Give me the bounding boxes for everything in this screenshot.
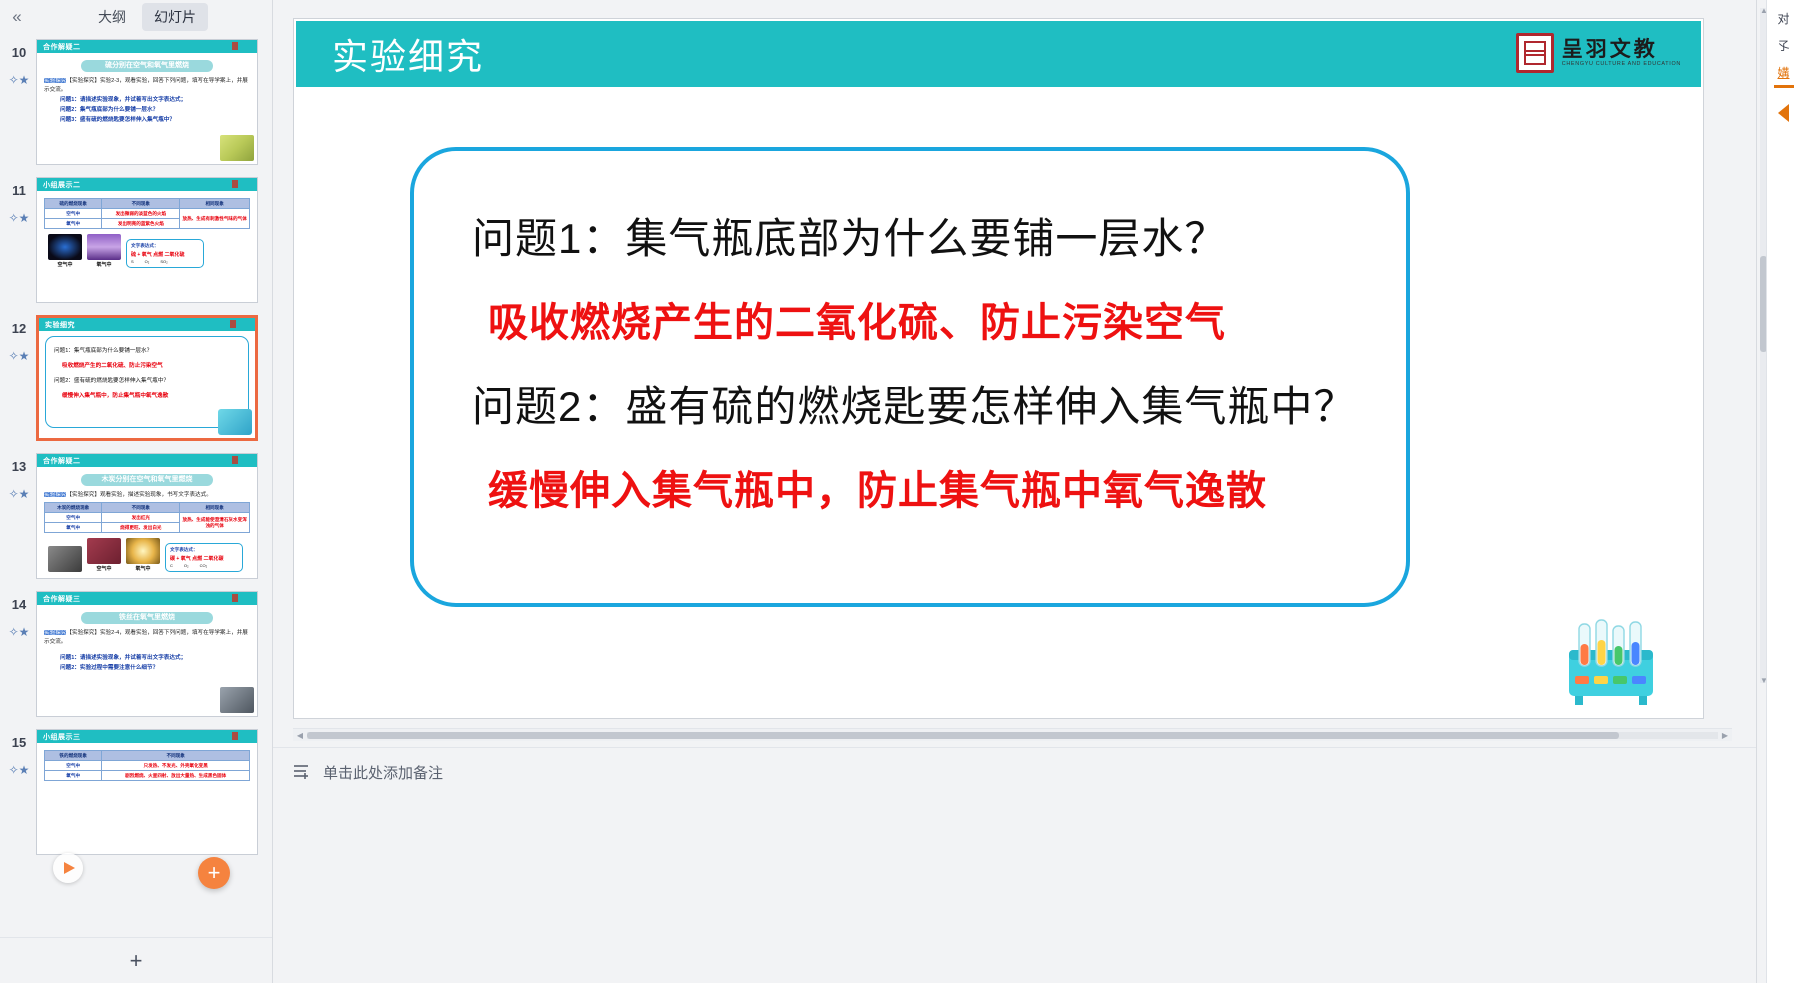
thumbnail-item-15[interactable]: 15 ✧★ 小组展示三 铁的燃烧现象 不同现象 [0, 723, 272, 861]
mini-header-title: 小组展示三 [43, 732, 81, 742]
thumbnail-preview-selected[interactable]: 实验细究 问题1：集气瓶底部为什么要铺一层水？ 吸收燃烧产生的二氧化硫、防止污染… [36, 315, 258, 441]
mini-image-row: 空气中 氧气中 文字表达式： 硫 + 氧气 点燃 二氧化硫 S [44, 234, 250, 268]
cell: 氧气中 [45, 219, 102, 229]
mini-brand-logo-icon [232, 732, 254, 740]
thumbnail-meta: 15 ✧★ [2, 729, 36, 779]
equation-text: 硫 + 氧气 点燃 二氧化硫 [131, 251, 199, 258]
right-rail: ▲ ▼ ▣ ⇵ 对 孓 媾 [1756, 0, 1800, 983]
thumbnail-meta: 12 ✧★ [2, 315, 36, 365]
table-header-row: 硫的燃烧现象 不同现象 相同现象 [45, 199, 250, 209]
slide-number: 11 [2, 181, 36, 201]
mini-question: 问题2：实验过程中需要注意什么细节？ [44, 663, 250, 673]
mini-image-row: 空气中 氧气中 文字表达式： 碳 + 氧气 点燃 二氧化碳 C [44, 538, 250, 572]
symbol: S [131, 259, 134, 264]
mini-question: 问题3：盛有硫的燃烧匙要怎样伸入集气瓶中？ [44, 115, 250, 125]
mini-body: 木炭分别在空气和氧气里燃烧 实验探究【实验探究】观看实验，描述实验现象，书写文字… [37, 467, 257, 578]
scroll-right-arrow[interactable]: ▶ [1718, 731, 1732, 740]
cell: 只发热、不发光、外壳氧化变黑 [102, 761, 250, 771]
col-header: 相同现象 [180, 199, 250, 209]
mini-data-table: 硫的燃烧现象 不同现象 相同现象 空气中 发出微弱的淡蓝色的火焰 放热、生成有刺… [44, 198, 250, 229]
content-rounded-box[interactable]: 问题1：集气瓶底部为什么要铺一层水？ 吸收燃烧产生的二氧化硫、防止污染空气 问题… [410, 147, 1410, 607]
mini-highlight: 实验探究 [44, 630, 66, 636]
animation-star-icon: ✧★ [2, 209, 36, 227]
mini-header-title: 合作解疑二 [43, 456, 81, 466]
thumbnail-meta: 10 ✧★ [2, 39, 36, 89]
mini-header: 小组展示二 [37, 178, 257, 191]
mini-line: 问题1：集气瓶底部为什么要铺一层水？ [54, 344, 240, 359]
table-row: 空气中 只发热、不发光、外壳氧化变黑 [45, 761, 250, 771]
equation-title: 文字表达式： [131, 243, 199, 249]
horizontal-scrollbar[interactable]: ◀ ▶ [293, 728, 1732, 741]
collapse-panel-icon[interactable]: « [0, 2, 34, 32]
mini-caption: 空气中 [87, 565, 121, 572]
scroll-track[interactable] [307, 732, 1718, 739]
mini-pill-title: 硫分别在空气和氧气里燃烧 [81, 60, 213, 72]
accent-underline [1774, 85, 1794, 88]
mini-line: 缓慢伸入集气瓶中，防止集气瓶中氧气逸散 [54, 389, 240, 404]
col-header: 相同现象 [180, 503, 250, 513]
slide-number: 15 [2, 733, 36, 753]
slide-title: 实验细究 [332, 28, 484, 80]
mini-equation-box: 文字表达式： 硫 + 氧气 点燃 二氧化硫 S O₂ SO₂ [126, 239, 204, 268]
cell: 放热、生成有刺激性气味的气体 [180, 209, 250, 229]
col-header: 不同现象 [102, 199, 180, 209]
mini-header-title: 合作解疑三 [43, 594, 81, 604]
table-header-row: 铁的燃烧现象 不同现象 [45, 751, 250, 761]
equation-symbols: C O₂ CO₂ [170, 563, 238, 568]
cell: 发出红光 [102, 513, 180, 523]
thumbnail-list[interactable]: 10 ✧★ 合作解疑二 硫分别在空气和氧气里燃烧 实验探究【实验探究】实验2-3… [0, 33, 272, 937]
play-slideshow-button[interactable] [53, 853, 83, 883]
mini-caption: 空气中 [48, 261, 82, 268]
thumbnail-meta: 14 ✧★ [2, 591, 36, 641]
add-slide-fab[interactable]: + [198, 857, 230, 889]
slide-stage: 实验细究 呈羽文教 CHENGYU CULTURE AND EDUCATION … [293, 18, 1732, 718]
thumbnail-panel-footer: + [0, 937, 272, 983]
mini-body: 硫分别在空气和氧气里燃烧 实验探究【实验探究】实验2-3，观看实验，回答下列问题… [37, 53, 257, 164]
mini-brand-logo-icon [232, 42, 254, 50]
thumbnail-preview[interactable]: 小组展示二 硫的燃烧现象 不同现象 相同现象 空气中 [36, 177, 258, 303]
mini-header: 合作解疑二 [37, 454, 257, 467]
cell: 氧气中 [45, 523, 102, 533]
cell: 空气中 [45, 513, 102, 523]
answer-2-text: 缓慢伸入集气瓶中，防止集气瓶中氧气逸散 [472, 449, 1386, 533]
play-icon [63, 861, 76, 875]
add-note-icon [293, 763, 311, 779]
col-header: 不同现象 [102, 751, 250, 761]
symbol: CO₂ [200, 563, 208, 568]
animation-star-icon: ✧★ [2, 623, 36, 641]
equation-symbols: S O₂ SO₂ [131, 259, 199, 264]
table-header-row: 木炭的燃烧现象 不同现象 相同现象 [45, 503, 250, 513]
animation-star-icon: ✧★ [2, 761, 36, 779]
mini-paragraph-text: 【实验探究】实验2-3，观看实验，回答下列问题，填写在导学案上，并展示交流。 [44, 78, 248, 93]
mini-header-title: 小组展示二 [43, 180, 81, 190]
thumbnail-preview[interactable]: 合作解疑二 硫分别在空气和氧气里燃烧 实验探究【实验探究】实验2-3，观看实验，… [36, 39, 258, 165]
mini-highlight: 实验探究 [44, 492, 66, 498]
powerpoint-editor-window: « 大纲 幻灯片 10 ✧★ 合作解疑二 硫分别在空气 [0, 0, 1800, 983]
panel-tabs: 大纲 幻灯片 [86, 3, 208, 31]
mini-photo [87, 234, 121, 260]
cell: 放热、生成能使澄清石灰水变浑浊的气体 [180, 513, 250, 533]
mini-paragraph: 实验探究【实验探究】实验2-4，观看实验，回答下列问题，填写在导学案上，并展示交… [44, 629, 250, 647]
col-header: 硫的燃烧现象 [45, 199, 102, 209]
thumbnail-item-13[interactable]: 13 ✧★ 合作解疑二 木炭分别在空气和氧气里燃烧 实验探究【实验探究】观看实验… [0, 447, 272, 585]
mini-body: 铁丝在氧气里燃烧 实验探究【实验探究】实验2-4，观看实验，回答下列问题，填写在… [37, 605, 257, 716]
question-1-text: 问题1：集气瓶底部为什么要铺一层水？ [472, 197, 1386, 281]
symbol: SO₂ [160, 259, 167, 264]
mini-question: 问题1：请描述实验现象，并试着写出文字表达式； [44, 653, 250, 663]
equation-title: 文字表达式： [170, 547, 238, 553]
mini-brand-logo-icon [232, 594, 254, 602]
slide-number: 14 [2, 595, 36, 615]
mini-image-block: 空气中 [48, 234, 82, 268]
slide-thumbnail-panel: « 大纲 幻灯片 10 ✧★ 合作解疑二 硫分别在空气 [0, 0, 273, 983]
right-side-panel[interactable]: 对 孓 媾 [1766, 0, 1800, 983]
mini-image-block: 氧气中 [126, 538, 160, 572]
thumbnail-panel-header: « 大纲 幻灯片 [0, 0, 272, 33]
mini-line: 问题2：盛有硫的燃烧匙要怎样伸入集气瓶中？ [54, 374, 240, 389]
mini-image-block: 空气中 [87, 538, 121, 572]
thumbnail-preview[interactable]: 小组展示三 铁的燃烧现象 不同现象 空气中 只发热、不发光、外壳氧化变黑 [36, 729, 258, 855]
thumbnail-item-12[interactable]: 12 ✧★ 实验细究 问题1：集气瓶底部为什么要铺一层水？ 吸收燃烧产生的二氧化… [0, 309, 272, 447]
table-row: 空气中 发出红光 放热、生成能使澄清石灰水变浑浊的气体 [45, 513, 250, 523]
mini-photo [48, 234, 82, 260]
notes-placeholder[interactable]: 单击此处添加备注 [323, 762, 443, 783]
mini-highlight: 实验探究 [44, 78, 66, 84]
slide-number: 12 [2, 319, 36, 339]
symbol: C [170, 563, 173, 568]
answer-1-text: 吸收燃烧产生的二氧化硫、防止污染空气 [472, 281, 1386, 365]
mini-equation-box: 文字表达式： 碳 + 氧气 点燃 二氧化碳 C O₂ CO₂ [165, 543, 243, 572]
tab-outline[interactable]: 大纲 [86, 3, 138, 31]
col-header: 木炭的燃烧现象 [45, 503, 102, 513]
table-row: 氧气中 剧烈燃烧、火星四射、放出大量热、生成黑色固体 [45, 771, 250, 781]
mini-paragraph-text: 【实验探究】观看实验，描述实验现象，书写文字表达式。 [66, 492, 211, 498]
mini-pill-title: 木炭分别在空气和氧气里燃烧 [81, 474, 213, 486]
animation-star-icon: ✧★ [2, 347, 36, 365]
slide-number: 10 [2, 43, 36, 63]
brand-logo: 呈羽文教 CHENGYU CULTURE AND EDUCATION [1516, 33, 1681, 73]
symbol: O₂ [145, 259, 150, 264]
brand-text: 呈羽文教 CHENGYU CULTURE AND EDUCATION [1562, 39, 1681, 67]
slide-number: 13 [2, 457, 36, 477]
thumbnail-meta: 13 ✧★ [2, 453, 36, 503]
mini-caption: 氧气中 [126, 565, 160, 572]
right-panel-label-accent[interactable]: 媾 [1767, 64, 1800, 81]
mini-brand-logo-icon [230, 320, 252, 328]
col-header: 铁的燃烧现象 [45, 751, 102, 761]
symbol: O₂ [184, 563, 189, 568]
equation-text: 碳 + 氧气 点燃 二氧化碳 [170, 555, 238, 562]
mini-pill-title: 铁丝在氧气里燃烧 [81, 612, 213, 624]
mini-photo [220, 687, 254, 713]
current-slide[interactable]: 实验细究 呈羽文教 CHENGYU CULTURE AND EDUCATION … [293, 18, 1704, 719]
mini-header: 实验细究 [39, 318, 255, 331]
cell: 发出明亮的蓝紫色火焰 [102, 219, 180, 229]
mini-photo [220, 135, 254, 161]
notes-pane[interactable]: 单击此处添加备注 [273, 747, 1756, 837]
cell: 剧烈燃烧、火星四射、放出大量热、生成黑色固体 [102, 771, 250, 781]
mini-photo [126, 538, 160, 564]
mini-caption: 氧气中 [87, 261, 121, 268]
mini-paragraph-text: 【实验探究】实验2-4，观看实验，回答下列问题，填写在导学案上，并展示交流。 [44, 630, 248, 645]
mini-header: 小组展示三 [37, 730, 257, 743]
right-panel-label: 孓 [1767, 37, 1800, 54]
mini-photo [87, 538, 121, 564]
triangle-marker-icon [1778, 104, 1789, 122]
brand-name-cn: 呈羽文教 [1562, 39, 1681, 61]
thumbnail-meta: 11 ✧★ [2, 177, 36, 227]
mini-body: 铁的燃烧现象 不同现象 空气中 只发热、不发光、外壳氧化变黑 氧气中 剧烈燃烧、… [37, 743, 257, 854]
cell: 空气中 [45, 761, 102, 771]
question-2-text: 问题2：盛有硫的燃烧匙要怎样伸入集气瓶中？ [472, 365, 1386, 449]
thumbnail-preview[interactable]: 合作解疑二 木炭分别在空气和氧气里燃烧 实验探究【实验探究】观看实验，描述实验现… [36, 453, 258, 579]
test-tube-rack-icon [1561, 616, 1661, 708]
slide-header-bar: 实验细究 呈羽文教 CHENGYU CULTURE AND EDUCATION [296, 21, 1701, 87]
mini-data-table: 铁的燃烧现象 不同现象 空气中 只发热、不发光、外壳氧化变黑 氧气中 剧烈燃烧、… [44, 750, 250, 781]
cell: 空气中 [45, 209, 102, 219]
mini-body: 硫的燃烧现象 不同现象 相同现象 空气中 发出微弱的淡蓝色的火焰 放热、生成有刺… [37, 191, 257, 302]
scroll-left-arrow[interactable]: ◀ [293, 731, 307, 740]
mini-brand-logo-icon [232, 180, 254, 188]
thumbnail-item-14[interactable]: 14 ✧★ 合作解疑三 铁丝在氧气里燃烧 实验探究【实验探究】实验2-4，观看实… [0, 585, 272, 723]
mini-question: 问题1：请描述实验现象，并试着写出文字表达式； [44, 95, 250, 105]
mini-paragraph: 实验探究【实验探究】实验2-3，观看实验，回答下列问题，填写在导学案上，并展示交… [44, 77, 250, 95]
right-panel-label: 对 [1767, 10, 1800, 27]
mini-header: 合作解疑三 [37, 592, 257, 605]
mini-data-table: 木炭的燃烧现象 不同现象 相同现象 空气中 发出红光 放热、生成能使澄清石灰水变… [44, 502, 250, 533]
thumbnail-item-10[interactable]: 10 ✧★ 合作解疑二 硫分别在空气和氧气里燃烧 实验探究【实验探究】实验2-3… [0, 33, 272, 171]
editor-main-area: 实验细究 呈羽文教 CHENGYU CULTURE AND EDUCATION … [273, 0, 1756, 983]
col-header: 不同现象 [102, 503, 180, 513]
mini-photo [48, 546, 82, 572]
mini-image-block: 氧气中 [87, 234, 121, 268]
thumbnail-item-11[interactable]: 11 ✧★ 小组展示二 硫的燃烧现象 不同现象 相同现象 [0, 171, 272, 309]
cell: 烧得更旺、发出白光 [102, 523, 180, 533]
mini-test-tube-icon [218, 409, 252, 435]
brand-name-en: CHENGYU CULTURE AND EDUCATION [1562, 61, 1681, 67]
mini-brand-logo-icon [232, 456, 254, 464]
content-lines: 问题1：集气瓶底部为什么要铺一层水？ 吸收燃烧产生的二氧化硫、防止污染空气 问题… [472, 197, 1386, 533]
mini-header-title: 合作解疑二 [43, 42, 81, 52]
animation-star-icon: ✧★ [2, 71, 36, 89]
thumbnail-preview[interactable]: 合作解疑三 铁丝在氧气里燃烧 实验探究【实验探究】实验2-4，观看实验，回答下列… [36, 591, 258, 717]
mini-header-title: 实验细究 [45, 320, 75, 330]
mini-line: 吸收燃烧产生的二氧化硫、防止污染空气 [54, 359, 240, 374]
table-row: 空气中 发出微弱的淡蓝色的火焰 放热、生成有刺激性气味的气体 [45, 209, 250, 219]
add-slide-button[interactable]: + [130, 950, 143, 972]
cell: 氧气中 [45, 771, 102, 781]
scroll-thumb[interactable] [307, 732, 1619, 739]
animation-star-icon: ✧★ [2, 485, 36, 503]
mini-header: 合作解疑二 [37, 40, 257, 53]
brand-seal-icon [1516, 33, 1554, 73]
mini-paragraph: 实验探究【实验探究】观看实验，描述实验现象，书写文字表达式。 [44, 491, 250, 500]
cell: 发出微弱的淡蓝色的火焰 [102, 209, 180, 219]
mini-image-block [48, 546, 82, 572]
tab-slides[interactable]: 幻灯片 [142, 3, 208, 31]
mini-question: 问题2：集气瓶底部为什么要铺一层水？ [44, 105, 250, 115]
